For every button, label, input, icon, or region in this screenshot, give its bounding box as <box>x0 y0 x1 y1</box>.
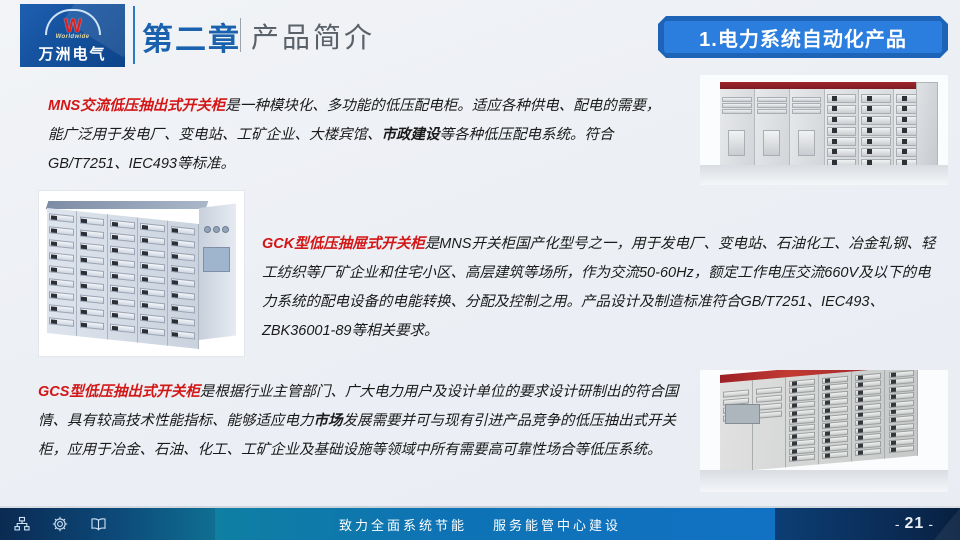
chapter-title: 第二章 <box>142 14 241 59</box>
paragraph-gcs: GCS型低压抽出式开关柜是根据行业主管部门、广大电力用户及设计单位的要求设计研制… <box>38 378 698 465</box>
company-logo: W Worldwide 万洲电气 <box>20 4 125 67</box>
page-prefix: - <box>895 516 901 532</box>
paragraph-gcs-seg-1: 市场 <box>314 413 343 429</box>
paragraph-gck: GCK型低压抽屉式开关柜是MNS开关柜国产化型号之一，用于发电厂、变电站、石油化… <box>262 230 937 346</box>
section-badge-label: 1.电力系统自动化产品 <box>699 23 907 52</box>
footer-slogan-left: 致力全面系统节能 <box>339 515 467 534</box>
mns-switchgear-photo <box>700 75 948 185</box>
page-number-value: 21 <box>905 515 925 533</box>
slide: W Worldwide 万洲电气 第二章 产品简介 1.电力系统自动化产品 MN… <box>0 0 960 540</box>
gcs-switchgear-photo <box>700 370 948 492</box>
section-badge: 1.电力系统自动化产品 <box>658 16 948 58</box>
footer-slogan: 致力全面系统节能 服务能管中心建设 <box>0 508 960 540</box>
page-number: - 21 - <box>895 508 934 540</box>
slide-footer: 致力全面系统节能 服务能管中心建设 - 21 - <box>0 508 960 540</box>
logo-company-name: 万洲电气 <box>20 43 125 64</box>
logo-emblem-icon: W <box>20 9 125 35</box>
chapter-subtitle: 产品简介 <box>251 16 375 56</box>
title-separator <box>240 18 241 52</box>
paragraph-mns-seg-1: 市政建设 <box>382 127 440 143</box>
page-suffix: - <box>928 516 934 532</box>
logo-letter: W <box>64 18 81 35</box>
header-accent-bar <box>133 6 135 64</box>
keyword-mns: MNS交流低压抽出式开关柜 <box>48 98 225 114</box>
keyword-gcs: GCS型低压抽出式开关柜 <box>38 384 200 400</box>
gck-switchgear-photo <box>38 190 245 357</box>
keyword-gck: GCK型低压抽屉式开关柜 <box>262 236 425 252</box>
slide-header: W Worldwide 万洲电气 第二章 产品简介 1.电力系统自动化产品 <box>0 0 960 72</box>
footer-slogan-right: 服务能管中心建设 <box>493 515 621 534</box>
logo-tagline: Worldwide <box>20 34 125 40</box>
paragraph-mns: MNS交流低压抽出式开关柜是一种模块化、多功能的低压配电柜。适应各种供电、配电的… <box>48 92 668 179</box>
